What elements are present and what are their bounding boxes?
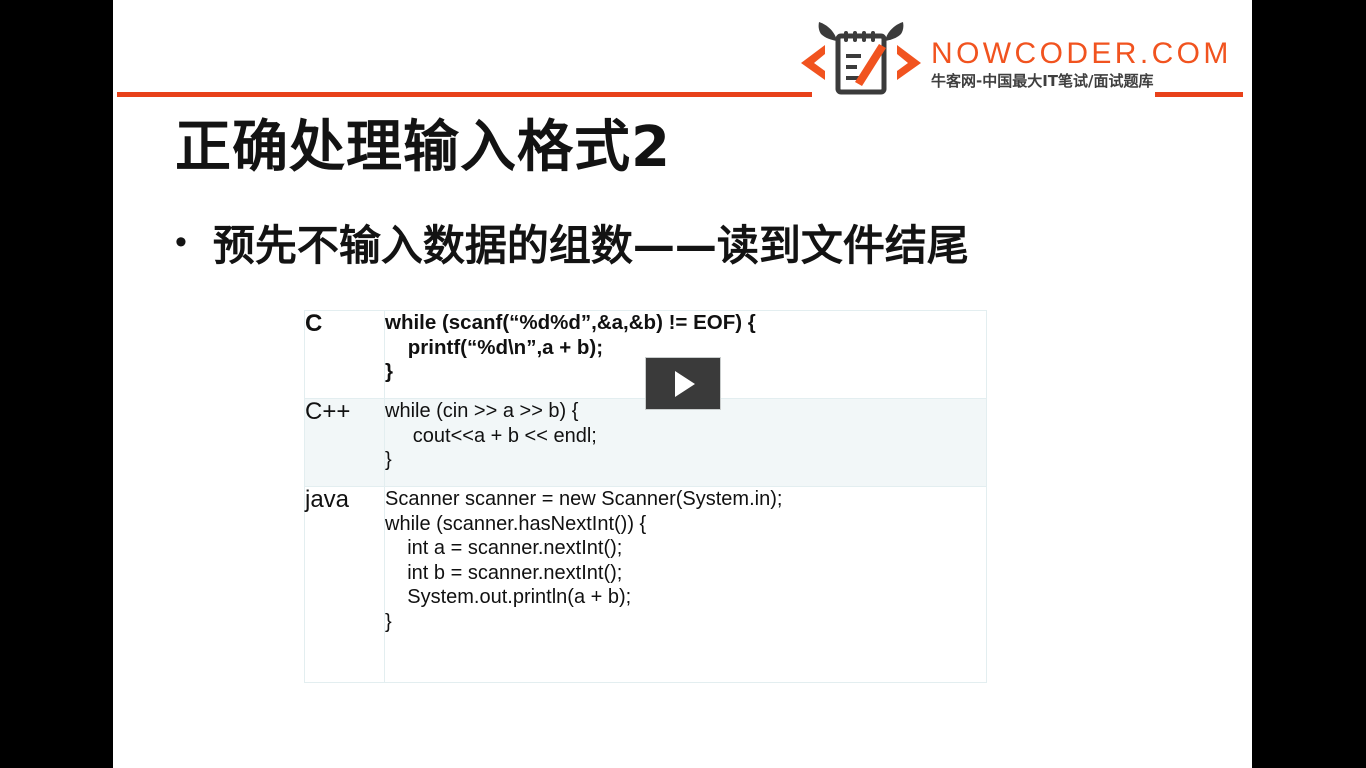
- slide-bullet-text: 预先不输入数据的组数——读到文件结尾: [213, 218, 969, 274]
- code-snippet-cpp: while (cin >> a >> b) { cout<<a + b << e…: [385, 399, 987, 487]
- brand-logo-block: NOWCODER.COM 牛客网-中国最大IT笔试/面试题库: [795, 18, 1252, 98]
- notepad-with-horns-code-brackets-icon: [795, 18, 927, 96]
- language-label-cpp: C++: [305, 399, 385, 487]
- header-rule-left: [117, 92, 812, 97]
- bullet-dot-icon: •: [175, 225, 187, 259]
- slide-title: 正确处理输入格式2: [175, 112, 671, 184]
- code-snippet-java: Scanner scanner = new Scanner(System.in)…: [385, 487, 987, 683]
- language-label-java: java: [305, 487, 385, 683]
- brand-name: NOWCODER.COM: [931, 38, 1251, 70]
- table-row: C++ while (cin >> a >> b) { cout<<a + b …: [305, 399, 987, 487]
- play-triangle-icon: [675, 371, 695, 397]
- presentation-slide: NOWCODER.COM 牛客网-中国最大IT笔试/面试题库 正确处理输入格式2…: [113, 0, 1252, 768]
- slide-bullet: • 预先不输入数据的组数——读到文件结尾: [175, 218, 969, 274]
- brand-tagline: 牛客网-中国最大IT笔试/面试题库: [931, 72, 1251, 90]
- letterbox-bar-right: [1252, 0, 1366, 768]
- table-row: java Scanner scanner = new Scanner(Syste…: [305, 487, 987, 683]
- brand-text-block: NOWCODER.COM 牛客网-中国最大IT笔试/面试题库: [931, 38, 1251, 90]
- play-button[interactable]: [645, 357, 721, 410]
- slide-header: NOWCODER.COM 牛客网-中国最大IT笔试/面试题库: [113, 0, 1252, 105]
- letterbox-bar-left: [0, 0, 113, 768]
- language-label-c: C: [305, 311, 385, 399]
- video-player-viewport: NOWCODER.COM 牛客网-中国最大IT笔试/面试题库 正确处理输入格式2…: [0, 0, 1366, 768]
